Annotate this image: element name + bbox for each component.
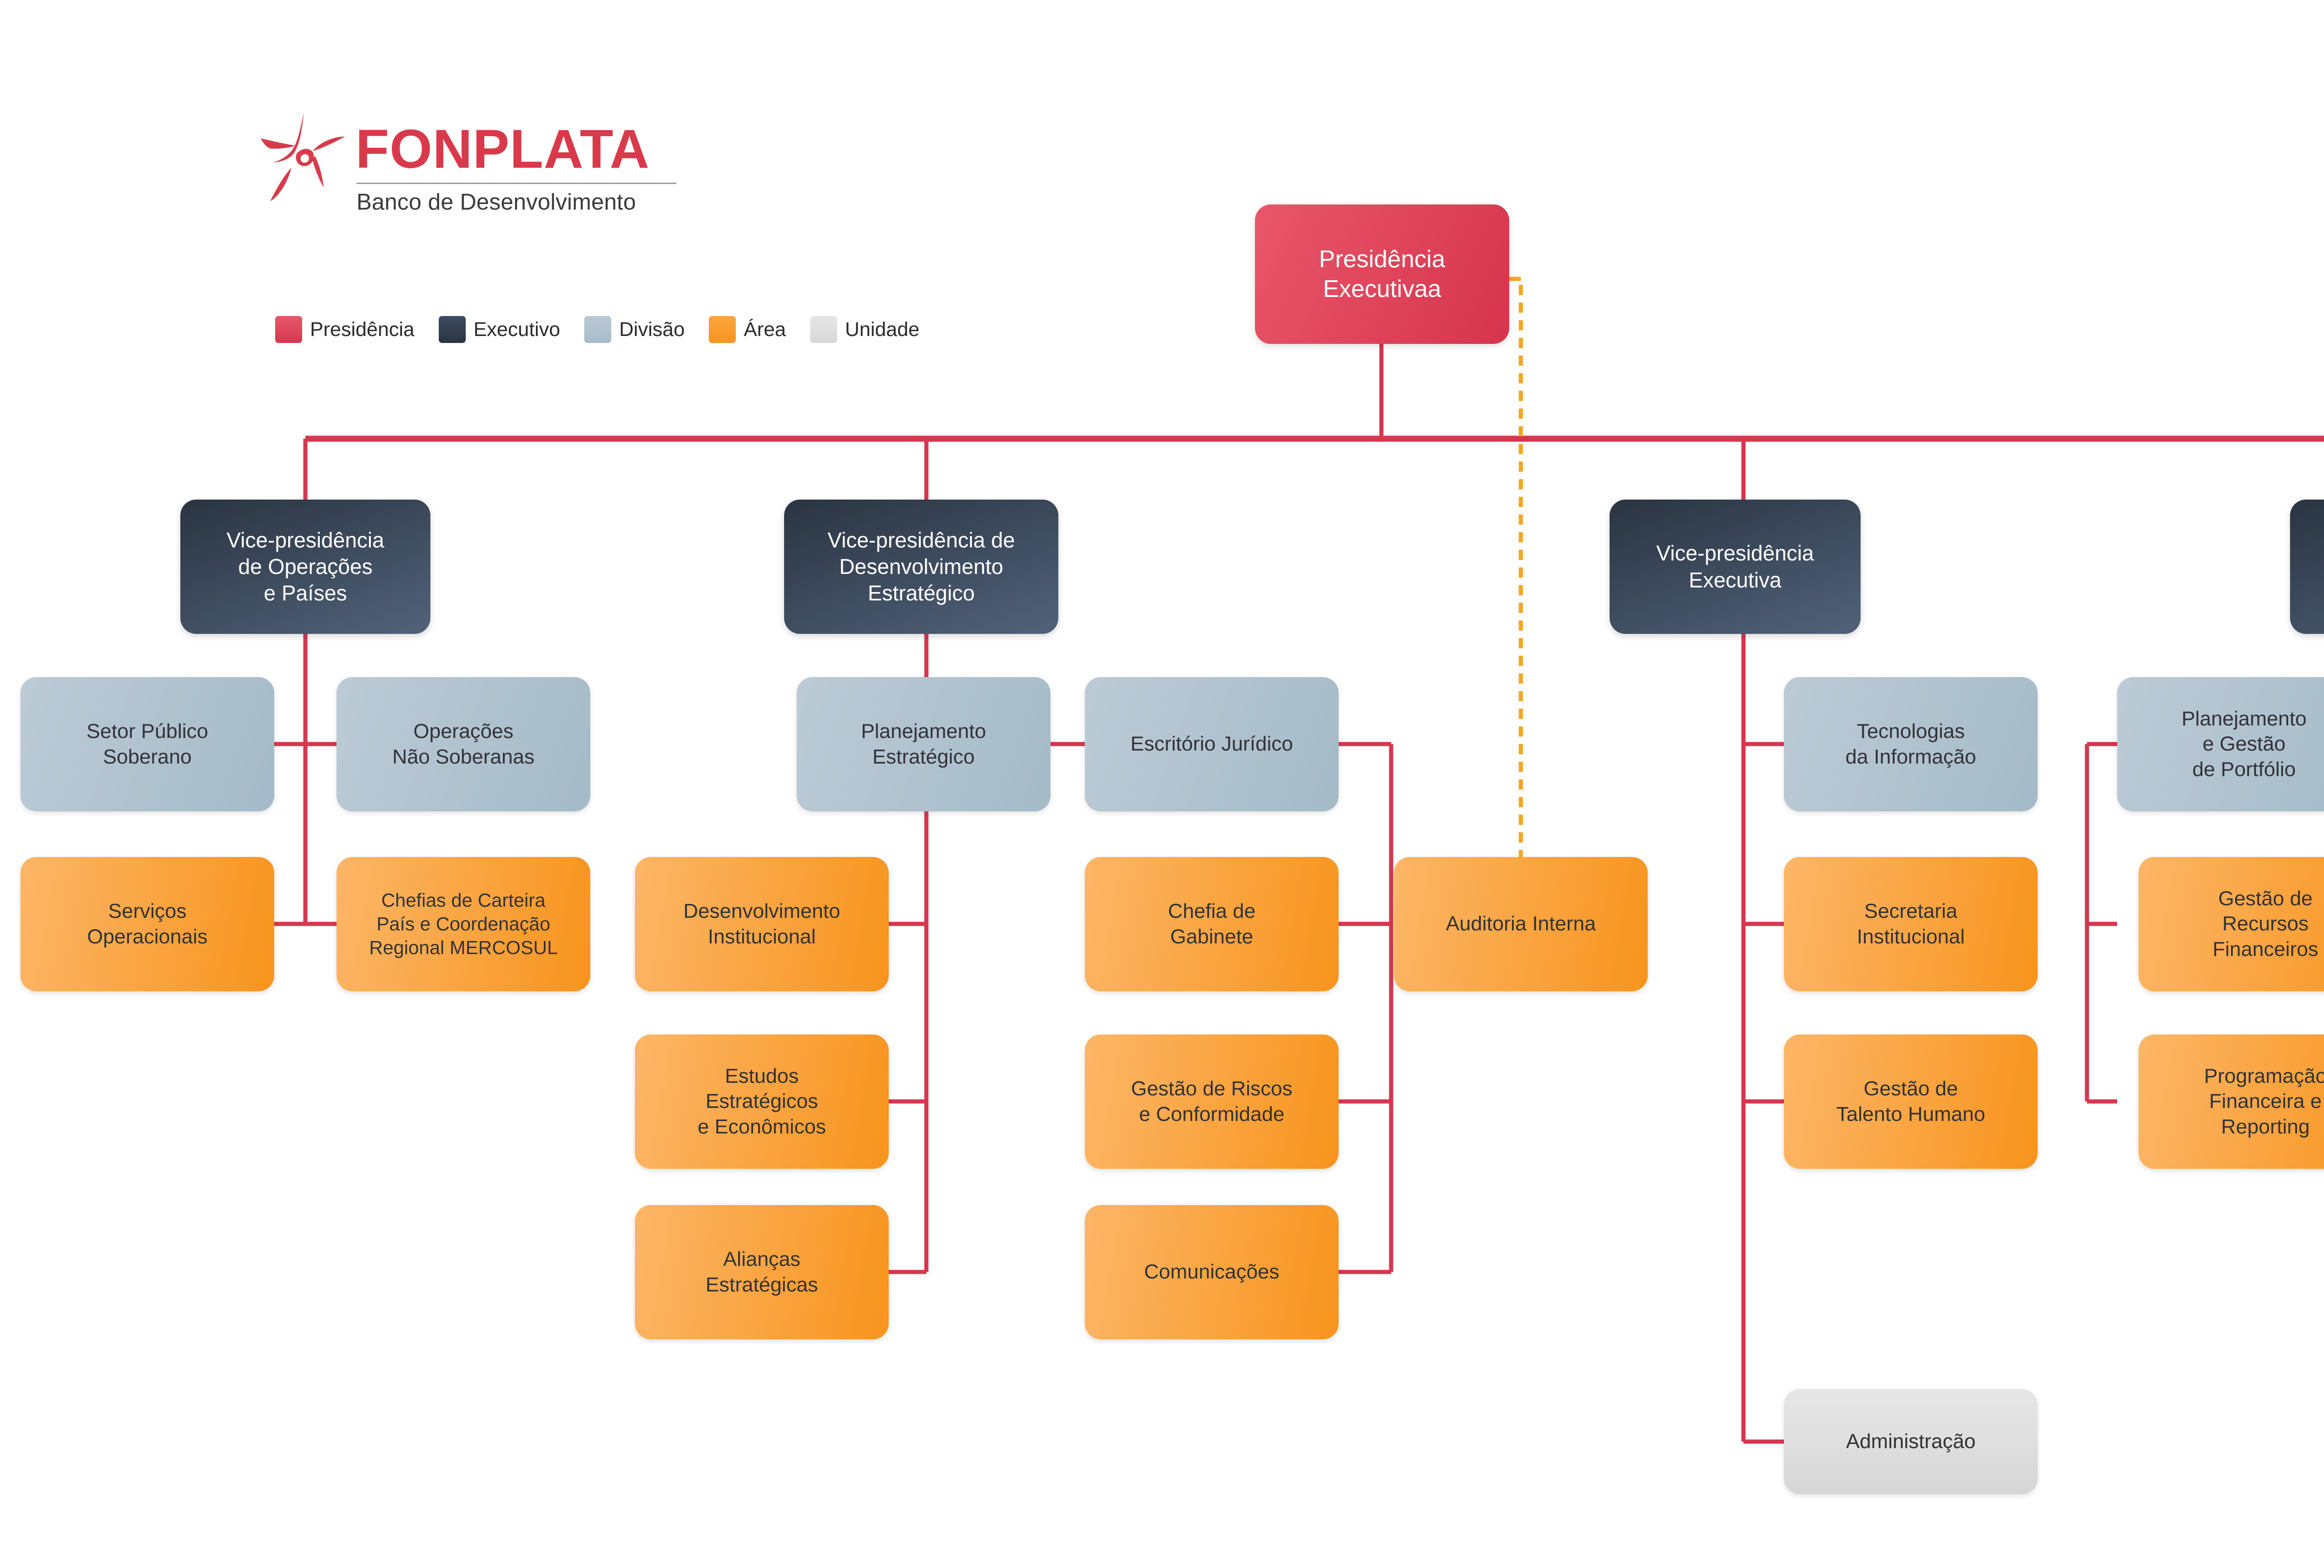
- node-vp-executiva[interactable]: Vice-presidência Executiva: [1610, 500, 1861, 634]
- legend-item-unidade: Unidade: [810, 316, 919, 343]
- node-chefias-carteira-pais-mercosul[interactable]: Chefias de Carteira País e Coordenação R…: [337, 857, 590, 991]
- node-vp-operacoes-e-paises[interactable]: Vice-presidência de Operações e Países: [180, 500, 430, 634]
- node-label: Chefia de Gabinete: [1160, 899, 1264, 949]
- logo-divider: [357, 183, 676, 184]
- node-estudos-estrategicos-economicos[interactable]: Estudos Estratégicos e Econômicos: [635, 1034, 889, 1169]
- node-tecnologias-da-informacao[interactable]: Tecnologias da Informação: [1784, 677, 2038, 811]
- node-desenvolvimento-institucional[interactable]: Desenvolvimento Institucional: [635, 857, 889, 991]
- node-label: Comunicações: [1136, 1259, 1287, 1285]
- brand-logo: FONPLATA Banco de Desenvolvimento: [260, 100, 725, 221]
- node-aliancas-estrategicas[interactable]: Alianças Estratégicas: [635, 1205, 889, 1339]
- node-setor-publico-soberano[interactable]: Setor Público Soberano: [20, 677, 274, 811]
- node-comunicacoes[interactable]: Comunicações: [1085, 1205, 1339, 1339]
- node-label: Gestão de Talento Humano: [1828, 1076, 1994, 1127]
- node-label: Gestão de Riscos e Conformidade: [1122, 1076, 1301, 1127]
- org-chart-canvas: FONPLATA Banco de Desenvolvimento Presid…: [0, 0, 2324, 1568]
- node-label: Administração: [1838, 1429, 1984, 1455]
- node-label: Desenvolvimento Institucional: [675, 899, 849, 949]
- legend-swatch-area: [709, 316, 736, 343]
- star-icon: [260, 113, 346, 201]
- node-gestao-recursos-financeiros[interactable]: Gestão de Recursos Financeiros: [2139, 857, 2324, 991]
- legend-label-executivo: Executivo: [474, 318, 560, 341]
- legend-item-executivo: Executivo: [439, 316, 560, 343]
- node-administracao[interactable]: Administração: [1784, 1389, 2038, 1494]
- legend-item-area: Área: [709, 316, 786, 343]
- node-chefia-de-gabinete[interactable]: Chefia de Gabinete: [1085, 857, 1339, 991]
- legend-swatch-divisao: [584, 316, 611, 343]
- node-servicos-operacionais[interactable]: Serviços Operacionais: [20, 857, 274, 991]
- node-label: Estudos Estratégicos e Econômicos: [689, 1064, 834, 1140]
- node-label: Programação Financeira e Reporting: [2196, 1064, 2324, 1140]
- node-programacao-financeira-reporting[interactable]: Programação Financeira e Reporting: [2139, 1034, 2324, 1169]
- logo-wordmark: FONPLATA: [356, 118, 650, 181]
- node-label: Tecnologias da Informação: [1837, 719, 1984, 770]
- node-label: Chefias de Carteira País e Coordenação R…: [361, 889, 566, 959]
- node-label: Setor Público Soberano: [78, 719, 217, 770]
- node-label: Alianças Estratégicas: [697, 1247, 826, 1298]
- node-presidencia-executiva[interactable]: Presidência Executivaa: [1255, 204, 1509, 344]
- node-label: Planejamento Estratégico: [852, 719, 994, 770]
- node-auditoria-interna[interactable]: Auditoria Interna: [1394, 857, 1648, 991]
- node-gestao-riscos-conformidade[interactable]: Gestão de Riscos e Conformidade: [1085, 1034, 1339, 1169]
- legend-label-divisao: Divisão: [619, 318, 685, 341]
- legend-swatch-executivo: [439, 316, 466, 343]
- node-planejamento-estrategico[interactable]: Planejamento Estratégico: [797, 677, 1050, 811]
- node-label: Gestão de Recursos Financeiros: [2204, 886, 2324, 962]
- node-vp-financas[interactable]: Vice-presidência de Finanças: [2290, 500, 2324, 634]
- node-label: Operações Não Soberanas: [384, 719, 543, 770]
- node-vp-desenvolvimento-estrategico[interactable]: Vice-presidência de Desenvolvimento Estr…: [784, 500, 1058, 634]
- logo-tagline: Banco de Desenvolvimento: [357, 189, 636, 215]
- node-secretaria-institucional[interactable]: Secretaria Institucional: [1784, 857, 2038, 991]
- legend-label-unidade: Unidade: [845, 318, 919, 341]
- legend-item-presidencia: Presidência: [275, 316, 415, 343]
- node-label: Vice-presidência de Operações e Países: [218, 527, 392, 606]
- node-operacoes-nao-soberanas[interactable]: Operações Não Soberanas: [337, 677, 590, 811]
- node-planejamento-gestao-portfolio[interactable]: Planejamento e Gestão de Portfólio: [2117, 677, 2324, 811]
- node-label: Presidência Executivaa: [1311, 244, 1454, 304]
- legend-swatch-unidade: [810, 316, 837, 343]
- legend-item-divisao: Divisão: [584, 316, 685, 343]
- legend-label-presidencia: Presidência: [310, 318, 415, 341]
- node-label: Serviços Operacionais: [79, 899, 216, 949]
- node-escritorio-juridico[interactable]: Escritório Jurídico: [1085, 677, 1339, 811]
- legend: Presidência Executivo Divisão Área Unida…: [275, 316, 919, 343]
- node-label: Auditoria Interna: [1438, 911, 1604, 937]
- node-label: Secretaria Institucional: [1849, 899, 1973, 949]
- node-gestao-talento-humano[interactable]: Gestão de Talento Humano: [1784, 1034, 2038, 1169]
- node-label: Vice-presidência de Desenvolvimento Estr…: [819, 527, 1023, 606]
- node-label: Escritório Jurídico: [1122, 731, 1301, 757]
- legend-swatch-presidencia: [275, 316, 302, 343]
- node-label: Vice-presidência Executiva: [1648, 540, 1822, 593]
- node-label: Planejamento e Gestão de Portfólio: [2173, 706, 2315, 783]
- legend-label-area: Área: [744, 318, 786, 341]
